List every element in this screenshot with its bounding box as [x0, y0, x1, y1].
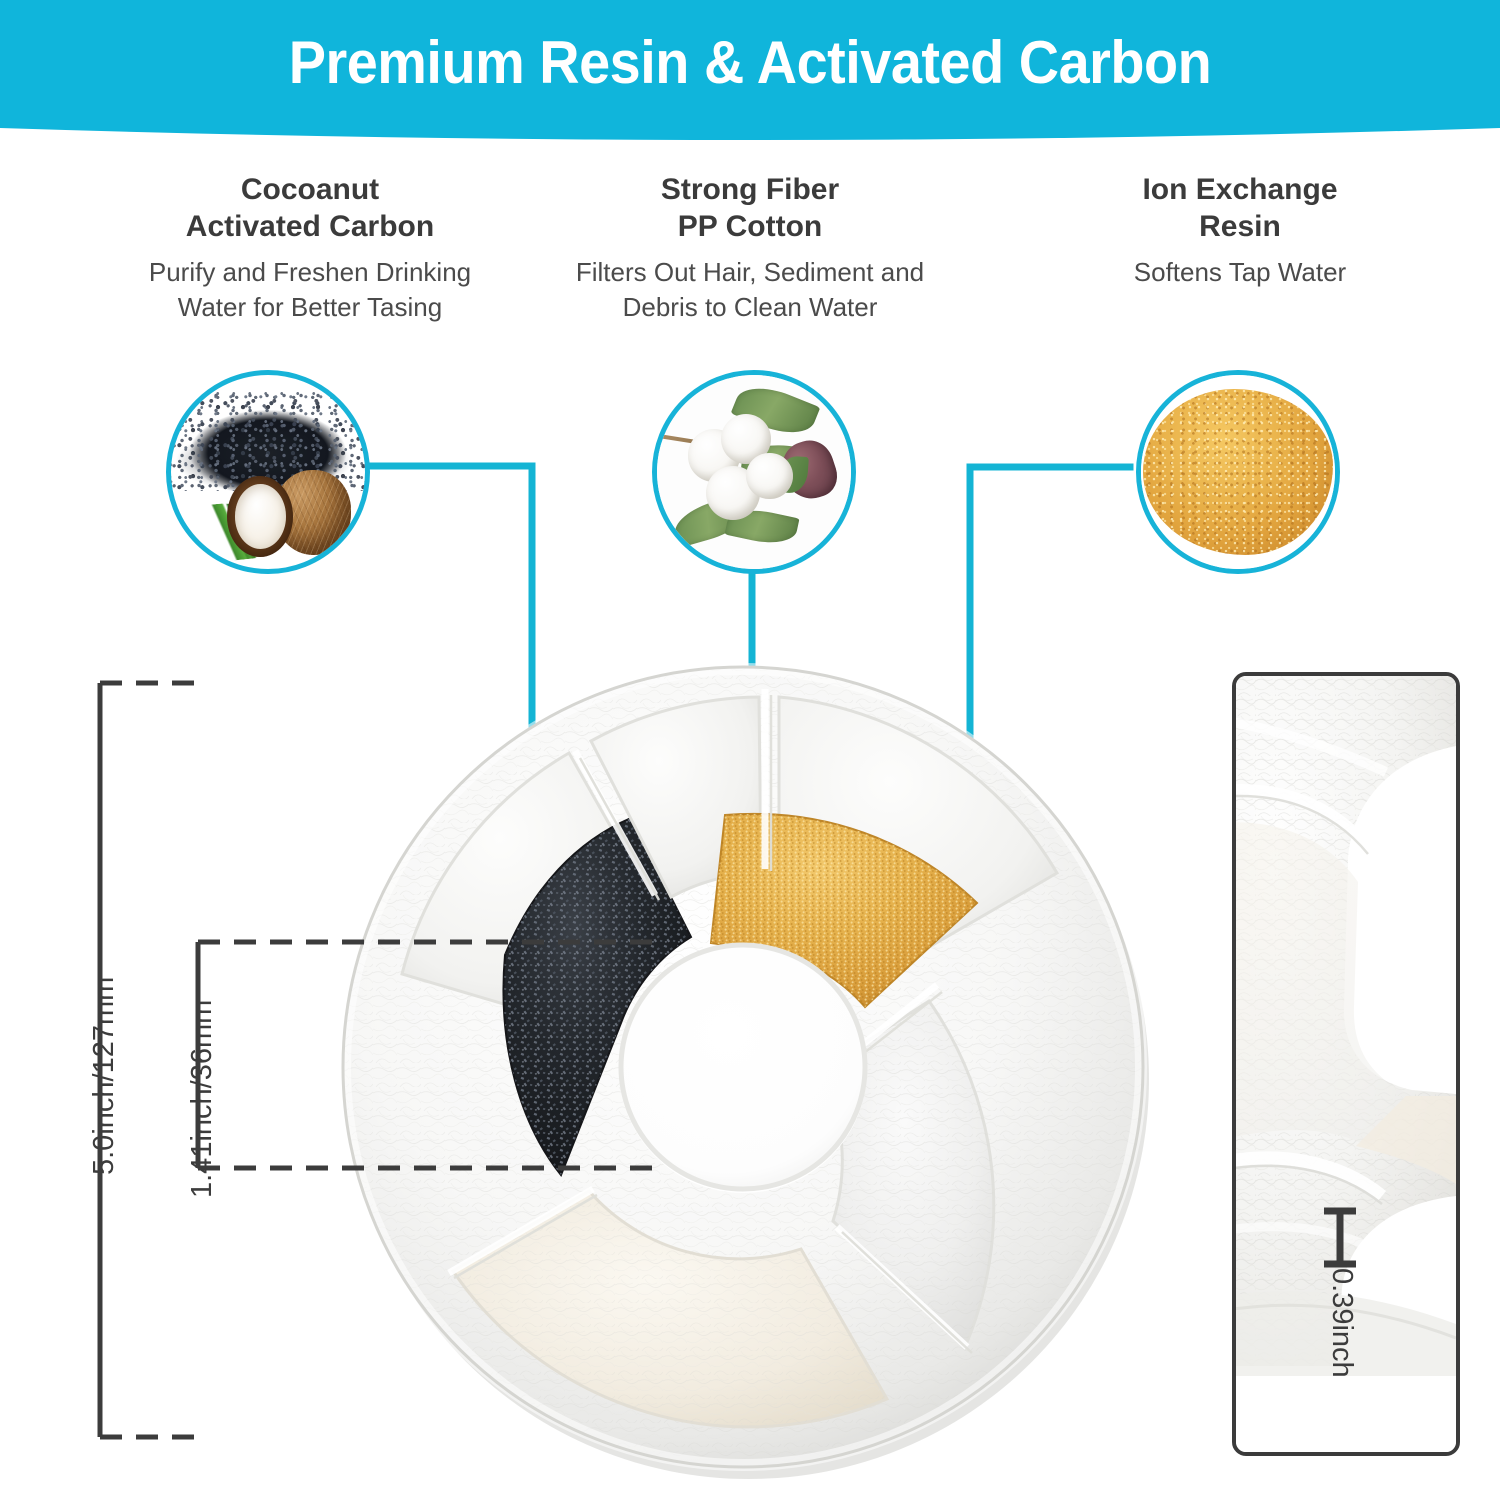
filter-disc-illustration	[325, 655, 1165, 1485]
feature-column-resin: Ion Exchange Resin Softens Tap Water	[1040, 172, 1440, 290]
cotton-boll-image	[746, 453, 793, 500]
feature-column-carbon: Cocoanut Activated Carbon Purify and Fre…	[110, 172, 510, 325]
coconut-carbon-photo	[166, 370, 370, 574]
center-hole-ring	[621, 945, 865, 1189]
cotton-boll-photo	[652, 370, 856, 574]
feature-description-cotton: Filters Out Hair, Sediment and Debris to…	[550, 255, 950, 325]
feature-title-carbon: Cocoanut Activated Carbon	[110, 172, 510, 245]
page-title: Premium Resin & Activated Carbon	[53, 28, 1448, 97]
feature-description-carbon: Purify and Freshen Drinking Water for Be…	[110, 255, 510, 325]
feature-description-resin: Softens Tap Water	[1040, 255, 1440, 290]
feature-title-resin: Ion Exchange Resin	[1040, 172, 1440, 245]
overall-diameter-label: 5.0inch/127mm	[88, 977, 121, 1175]
ion-resin-powder-photo	[1136, 370, 1340, 574]
feature-column-cotton: Strong Fiber PP Cotton Filters Out Hair,…	[550, 172, 950, 325]
header-banner: Premium Resin & Activated Carbon	[0, 0, 1500, 145]
segment-width-label: 1.41inch/36mm	[186, 1000, 219, 1198]
feature-title-cotton: Strong Fiber PP Cotton	[550, 172, 950, 245]
thickness-label: 0.39inch	[1325, 1268, 1358, 1378]
halved-coconut-image	[227, 476, 293, 557]
